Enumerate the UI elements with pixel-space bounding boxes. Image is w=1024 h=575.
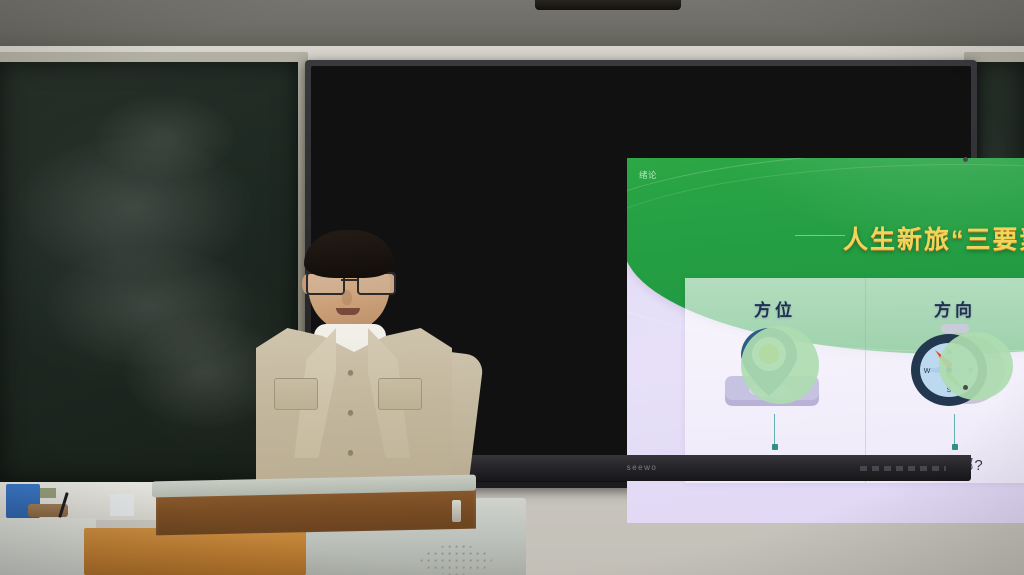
- wooden-desk: [84, 528, 306, 575]
- tray-paper-card[interactable]: [110, 494, 134, 516]
- compass-icon: N S E W: [887, 322, 1023, 414]
- column-fangwei: 方位: [685, 278, 865, 483]
- three-elements-card: 方位: [685, 278, 1024, 483]
- lectern-clip[interactable]: [452, 500, 461, 522]
- location-pin-icon: [707, 322, 843, 414]
- ceiling-camera-bar: [535, 0, 681, 10]
- display-brand-logo: seewo: [612, 462, 672, 474]
- column-connector-dot: [772, 444, 778, 450]
- display-sensor: [963, 157, 968, 162]
- slide-tag-left: 绪论: [639, 169, 657, 181]
- jacket-pocket: [274, 378, 318, 410]
- lecturer-hair: [304, 230, 394, 278]
- column-connector-dot: [952, 444, 958, 450]
- podium-speaker-grille: [420, 545, 492, 575]
- jacket-button: [348, 450, 353, 455]
- column-connector: [774, 414, 775, 446]
- lecturer-mouth: [336, 308, 360, 315]
- column-heading: 方位: [685, 296, 865, 321]
- column-connector: [954, 414, 955, 446]
- ceiling: [0, 0, 1024, 46]
- column-fangxiang: 方向: [865, 278, 1024, 483]
- jacket-button: [348, 370, 353, 375]
- display-indicator: [963, 385, 968, 390]
- jacket-button: [348, 410, 353, 415]
- column-heading: 方向: [865, 296, 1024, 321]
- svg-text:W: W: [924, 368, 931, 375]
- slide-title: 人生新旅“三要素”: [627, 220, 1024, 256]
- display-port-strip: [860, 466, 946, 471]
- side-cabinet: [0, 518, 96, 575]
- lecturer-nose: [342, 290, 352, 305]
- jacket-pocket: [378, 378, 422, 410]
- classroom-scene: 绪论 专题一 人生新旅“三要素” 方位: [0, 0, 1024, 575]
